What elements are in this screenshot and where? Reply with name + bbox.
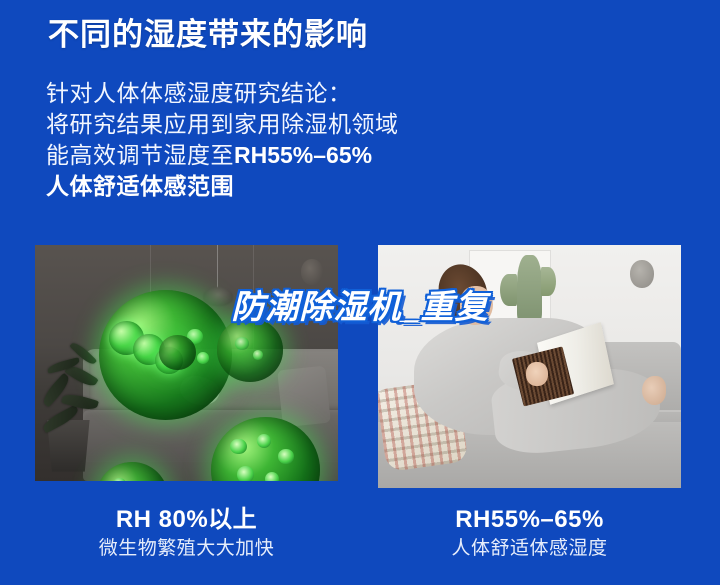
microbe-speck-icon bbox=[113, 478, 126, 481]
microbe-speck-icon bbox=[278, 449, 293, 464]
microbe-icon bbox=[96, 462, 169, 481]
caption-high-humidity: RH 80%以上 微生物繁殖大大加快 bbox=[35, 505, 338, 562]
pendant-cord-icon bbox=[217, 245, 218, 292]
poster-root: 不同的湿度带来的影响 针对人体体感湿度研究结论： 将研究结果应用到家用除湿机领域… bbox=[0, 0, 720, 585]
caption-title: RH 80%以上 bbox=[35, 505, 338, 534]
patterned-pillow-shape bbox=[378, 378, 468, 471]
leaf-icon bbox=[69, 340, 97, 368]
page-title: 不同的湿度带来的影响 bbox=[48, 16, 368, 53]
intro-line-3-prefix: 能高效调节湿度至 bbox=[46, 142, 234, 168]
leaf-icon bbox=[40, 373, 73, 408]
microbe-icon bbox=[99, 290, 232, 420]
sofa-shape bbox=[83, 349, 338, 481]
microbe-speck-icon bbox=[197, 352, 209, 364]
intro-line-3-emphasis: RH55%–65% bbox=[234, 142, 372, 168]
microbe-nucleus-icon bbox=[133, 334, 165, 365]
caption-subtitle: 微生物繁殖大大加快 bbox=[35, 536, 338, 562]
wall-seam-icon bbox=[150, 245, 151, 354]
cushion-shape bbox=[278, 365, 332, 426]
microbe-nucleus-icon bbox=[155, 347, 183, 374]
person-hand-shape bbox=[526, 362, 547, 386]
intro-line-3: 能高效调节湿度至RH55%–65% bbox=[46, 140, 506, 171]
microbe-speck-icon bbox=[253, 350, 264, 360]
leaf-icon bbox=[46, 357, 81, 374]
leaf-icon bbox=[61, 391, 99, 412]
microbe-speck-icon bbox=[257, 434, 271, 448]
caption-title: RH55%–65% bbox=[378, 505, 681, 534]
microbe-speck-icon bbox=[187, 329, 203, 345]
sofa-shape bbox=[378, 391, 681, 488]
caption-comfort-humidity: RH55%–65% 人体舒适体感湿度 bbox=[378, 505, 681, 562]
caption-subtitle: 人体舒适体感湿度 bbox=[378, 536, 681, 562]
throw-blanket-shape bbox=[177, 371, 224, 412]
microbe-speck-icon bbox=[230, 439, 246, 455]
person-legs-shape bbox=[490, 363, 664, 458]
wall-fixture-icon bbox=[630, 260, 654, 288]
book-icon bbox=[537, 323, 614, 406]
person-arm-shape bbox=[497, 348, 562, 395]
person-torso-shape bbox=[414, 318, 602, 435]
intro-block: 针对人体体感湿度研究结论： 将研究结果应用到家用除湿机领域 能高效调节湿度至RH… bbox=[46, 78, 506, 202]
book-pages-icon bbox=[512, 346, 574, 406]
cactus-icon bbox=[517, 255, 541, 325]
microbe-icon bbox=[159, 335, 195, 370]
microbe-speck-icon bbox=[235, 337, 248, 350]
leaf-icon bbox=[41, 404, 81, 433]
microbe-icon bbox=[211, 417, 320, 481]
leaf-icon bbox=[65, 362, 100, 390]
microbe-speck-icon bbox=[265, 472, 279, 481]
intro-line-1: 针对人体体感湿度研究结论： bbox=[46, 78, 506, 109]
watermark-text: 防潮除湿机_重复 bbox=[231, 280, 488, 328]
sofa-backrest-shape bbox=[578, 342, 681, 410]
pendant-lamp-icon bbox=[203, 287, 233, 306]
plant-pot-shape bbox=[44, 420, 92, 472]
intro-line-4: 人体舒适体感范围 bbox=[46, 171, 506, 202]
microbe-nucleus-icon bbox=[109, 321, 144, 355]
intro-line-2: 将研究结果应用到家用除湿机领域 bbox=[46, 109, 506, 140]
person-foot-shape bbox=[642, 376, 666, 405]
microbe-speck-icon bbox=[237, 466, 254, 481]
